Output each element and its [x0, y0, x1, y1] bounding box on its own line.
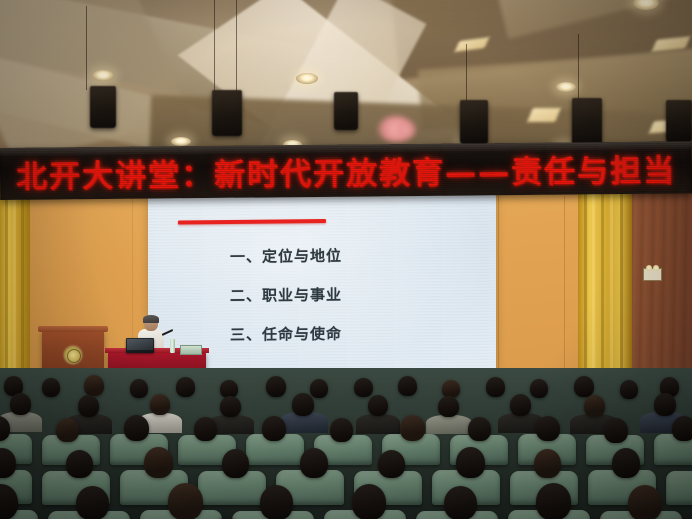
audience-head — [620, 380, 638, 399]
audience-head — [66, 450, 93, 478]
audience-head — [330, 418, 353, 442]
auditorium-seat — [666, 471, 692, 505]
audience-head — [536, 483, 571, 519]
audience-head — [10, 393, 31, 415]
audience-head — [310, 379, 328, 398]
audience-head — [352, 484, 386, 519]
slide-item: 一、定位与地位 — [230, 245, 342, 267]
seated-audience — [0, 368, 692, 519]
rectangular-panel-light — [527, 108, 561, 122]
ceiling-speaker — [90, 86, 116, 128]
led-scrolling-banner: 北开大讲堂：新时代开放教育——责任与担当 — [0, 141, 692, 200]
ceiling-speaker — [334, 92, 358, 130]
ceiling-speaker — [666, 100, 692, 142]
audience-head — [604, 418, 628, 443]
ceiling — [0, 0, 692, 160]
audience-head — [444, 486, 477, 519]
institution-seal-emblem — [64, 346, 82, 364]
audience-head — [378, 450, 405, 478]
light-bulb-icon — [653, 265, 659, 271]
speaker-suspension-wire — [236, 0, 237, 92]
speaker-suspension-wire — [86, 6, 87, 90]
audience-head — [534, 449, 561, 478]
curtain-fold — [13, 185, 16, 395]
audience-head — [354, 378, 373, 397]
led-banner-text: 北开大讲堂：新时代开放教育——责任与担当 — [16, 145, 676, 196]
audience-shoulders — [356, 414, 400, 434]
lectern-top-surface — [38, 326, 108, 332]
speaker-suspension-wire — [466, 44, 467, 102]
audience-head — [124, 415, 149, 441]
audience-head — [672, 416, 692, 441]
slide-outline-list: 一、定位与地位 二、职业与事业 三、任命与使命 — [230, 245, 342, 363]
wall-light-fixture — [643, 268, 662, 281]
audience-head — [300, 448, 328, 478]
audience-head — [510, 394, 531, 416]
ceiling-speaker — [212, 90, 242, 136]
recessed-downlight — [171, 137, 191, 146]
audience-head — [400, 415, 425, 441]
audience-head — [220, 396, 241, 417]
audience-head — [130, 379, 148, 398]
audience-head — [486, 377, 505, 397]
water-bottle — [170, 339, 175, 353]
curtain-fold — [21, 185, 24, 395]
wall-panel-seam — [132, 196, 133, 356]
audience-head — [584, 395, 605, 417]
laptop — [126, 338, 154, 353]
speaker-suspension-wire — [578, 34, 579, 100]
ceiling-speaker — [572, 98, 602, 146]
audience-head — [654, 393, 676, 416]
audience-head — [612, 448, 640, 478]
audience-head — [536, 416, 560, 441]
light-bulb-icon — [646, 265, 652, 271]
audience-head — [222, 449, 249, 478]
stage-curtain-left — [0, 185, 30, 395]
recessed-downlight — [92, 70, 114, 81]
audience-head — [368, 395, 388, 416]
speaker-suspension-wire — [214, 0, 215, 92]
audience-head — [78, 395, 99, 417]
presenter-hair — [143, 315, 159, 323]
recessed-downlight — [556, 82, 576, 92]
wall-panel-seam — [498, 196, 499, 396]
audience-head — [468, 417, 491, 441]
audience-head — [144, 447, 173, 478]
audience-head — [176, 377, 195, 397]
audience-head — [262, 416, 286, 441]
audience-head — [56, 418, 79, 442]
audience-head — [168, 483, 203, 519]
audience-shoulders — [426, 415, 472, 434]
audience-head — [150, 394, 170, 415]
audience-head — [84, 375, 104, 396]
audience-head — [398, 376, 417, 396]
stage-light-glare — [396, 122, 416, 138]
ceiling-speaker — [460, 100, 488, 144]
audience-head — [292, 393, 314, 416]
audience-head — [456, 447, 485, 478]
audience-head — [442, 380, 460, 398]
audience-head — [260, 485, 293, 519]
recessed-downlight — [296, 73, 318, 84]
wall-panel-seam — [564, 196, 565, 381]
curtain-fold — [5, 185, 8, 395]
auditorium-photo: 一、定位与地位 二、职业与事业 三、任命与使命 北开大讲堂：新时代开放教育——责… — [0, 0, 692, 519]
slide-item: 二、职业与事业 — [230, 284, 342, 306]
audience-head — [76, 486, 109, 519]
audience-head — [574, 376, 594, 397]
audience-head — [194, 417, 217, 441]
audience-head — [628, 485, 662, 519]
audience-head — [530, 379, 548, 398]
slide-item: 三、任命与使命 — [230, 323, 342, 345]
audience-head — [42, 378, 60, 397]
name-placard — [180, 345, 202, 355]
audience-head — [438, 396, 459, 417]
audience-head — [266, 376, 286, 397]
